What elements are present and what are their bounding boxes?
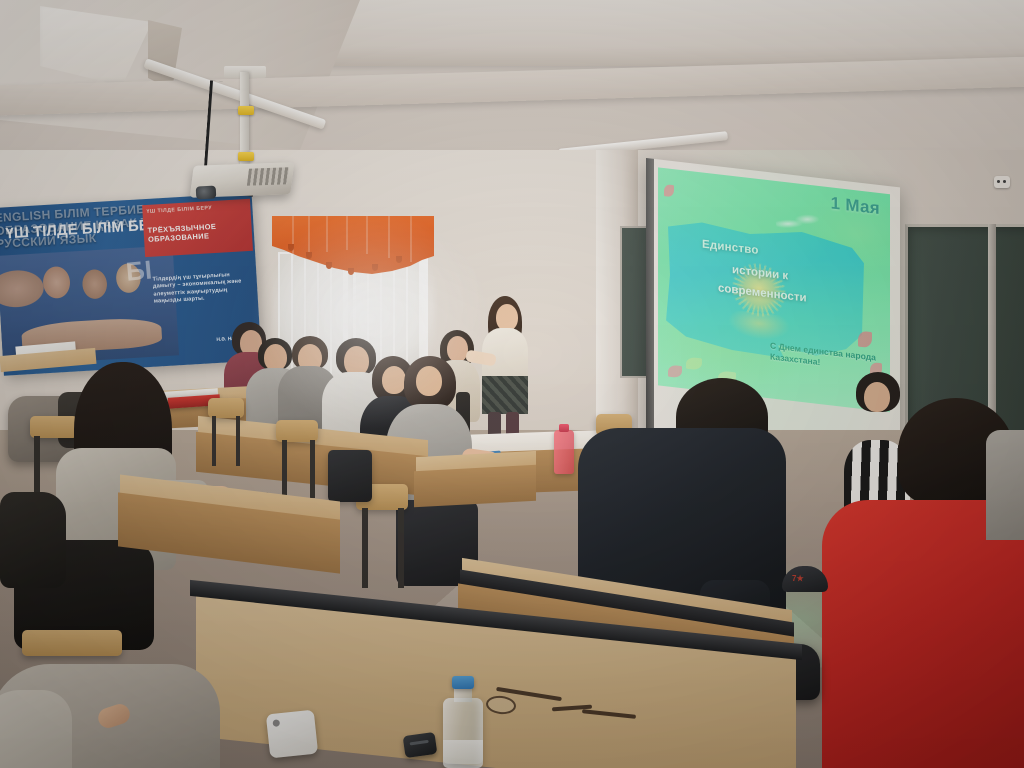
chair-backrest bbox=[30, 416, 78, 438]
chair-leg bbox=[212, 416, 216, 466]
chair-seatback-dark bbox=[328, 450, 372, 502]
valance-fold bbox=[326, 216, 328, 252]
head bbox=[864, 382, 890, 412]
valance-fold bbox=[346, 216, 348, 250]
black-bag-floor bbox=[0, 492, 66, 588]
projector-vent-grille bbox=[247, 167, 289, 185]
plaid-skirt bbox=[482, 376, 528, 414]
head bbox=[264, 344, 287, 371]
petal-decor bbox=[686, 357, 702, 371]
valance-tassel bbox=[348, 268, 354, 275]
petal-decor bbox=[668, 365, 682, 379]
valance-tassel bbox=[326, 262, 332, 269]
valance-fold bbox=[388, 216, 390, 258]
chair-backrest bbox=[22, 630, 122, 656]
classroom-photo: ENGLISH БІЛІМ ТЕРБИЕ ОБРАЗОВАНИЕ ҚАЗАҚ Т… bbox=[0, 0, 1024, 768]
valance-fold bbox=[410, 216, 412, 262]
desk-front-panel bbox=[414, 465, 536, 507]
chair-leg bbox=[282, 440, 287, 498]
bottle-label bbox=[443, 740, 483, 764]
chair-backrest bbox=[276, 420, 318, 442]
student-grey-far-right bbox=[986, 430, 1024, 540]
valance-fold bbox=[366, 216, 368, 254]
chair-leg bbox=[362, 508, 368, 588]
chair-leg bbox=[398, 508, 404, 588]
screen-left-edge bbox=[646, 158, 654, 441]
car-key-fob[interactable] bbox=[403, 732, 438, 758]
white-smartphone[interactable] bbox=[266, 710, 318, 759]
valance-fold bbox=[292, 216, 294, 260]
head bbox=[447, 336, 468, 362]
chair-leg bbox=[236, 416, 240, 466]
pink-water-bottle bbox=[554, 430, 574, 474]
banner-big-letters: БІ bbox=[125, 254, 154, 287]
petal-decor bbox=[664, 184, 674, 197]
dove-icon bbox=[774, 209, 822, 240]
cable-tie-icon bbox=[238, 106, 254, 115]
petal-decor bbox=[858, 331, 872, 349]
bottle-cap[interactable] bbox=[452, 676, 474, 689]
chair-backrest bbox=[208, 398, 244, 418]
red-sweater-torso bbox=[822, 500, 1024, 768]
valance-tassel bbox=[372, 264, 378, 271]
projector-lens-icon bbox=[196, 185, 217, 199]
chair-leg bbox=[310, 440, 315, 498]
valance-tassel bbox=[396, 256, 402, 263]
ceiling-sensor-icon bbox=[994, 176, 1010, 188]
banner-quote: Тілдердің үш тұғырлығын дамыту – экономи… bbox=[152, 271, 250, 306]
valance-fold bbox=[308, 216, 310, 256]
water-bottle[interactable] bbox=[443, 676, 483, 768]
slide-date-heading: 1 Мая bbox=[831, 193, 880, 219]
photographer-arm bbox=[0, 690, 72, 768]
cable-tie-icon bbox=[238, 152, 254, 161]
valance-tassel bbox=[288, 244, 294, 251]
head bbox=[416, 366, 442, 396]
valance-tassel bbox=[306, 252, 312, 259]
head bbox=[382, 366, 406, 394]
presentation-slide: 1 Мая Единство истории к современности С… bbox=[658, 167, 890, 412]
head bbox=[496, 304, 518, 331]
